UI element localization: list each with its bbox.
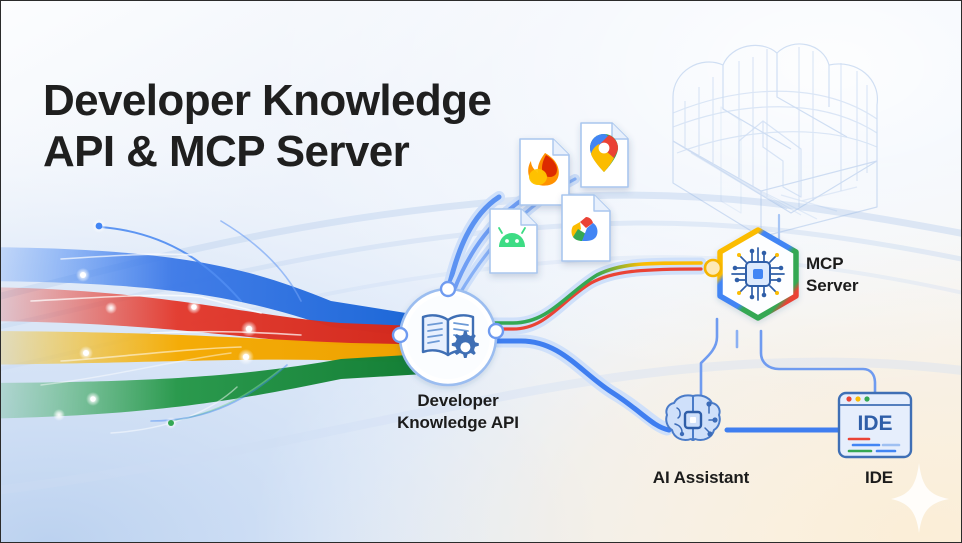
port-mcp-left — [705, 260, 721, 276]
source-card-google-cloud — [562, 195, 610, 261]
diagram-canvas: IDE Developer Knowledge API & MCP Server… — [0, 0, 962, 543]
source-card-google-maps — [581, 123, 628, 187]
label-ide: IDE — [809, 467, 949, 489]
node-ai-assistant — [666, 395, 720, 440]
ide-traffic-dots — [846, 396, 869, 401]
source-card-android — [490, 209, 537, 273]
port-left — [393, 328, 407, 342]
ide-window-text: IDE — [857, 412, 892, 435]
cpu-chip-icon — [732, 248, 784, 300]
node-ide: IDE — [839, 393, 911, 457]
label-ai-assistant: AI Assistant — [601, 467, 801, 489]
port-right — [489, 324, 503, 338]
label-mcp-server: MCP Server — [806, 253, 956, 297]
port-top — [441, 282, 455, 296]
page-title: Developer Knowledge API & MCP Server — [43, 75, 563, 178]
brain-circuit-icon — [666, 395, 720, 440]
label-developer-knowledge-api: Developer Knowledge API — [338, 390, 578, 434]
